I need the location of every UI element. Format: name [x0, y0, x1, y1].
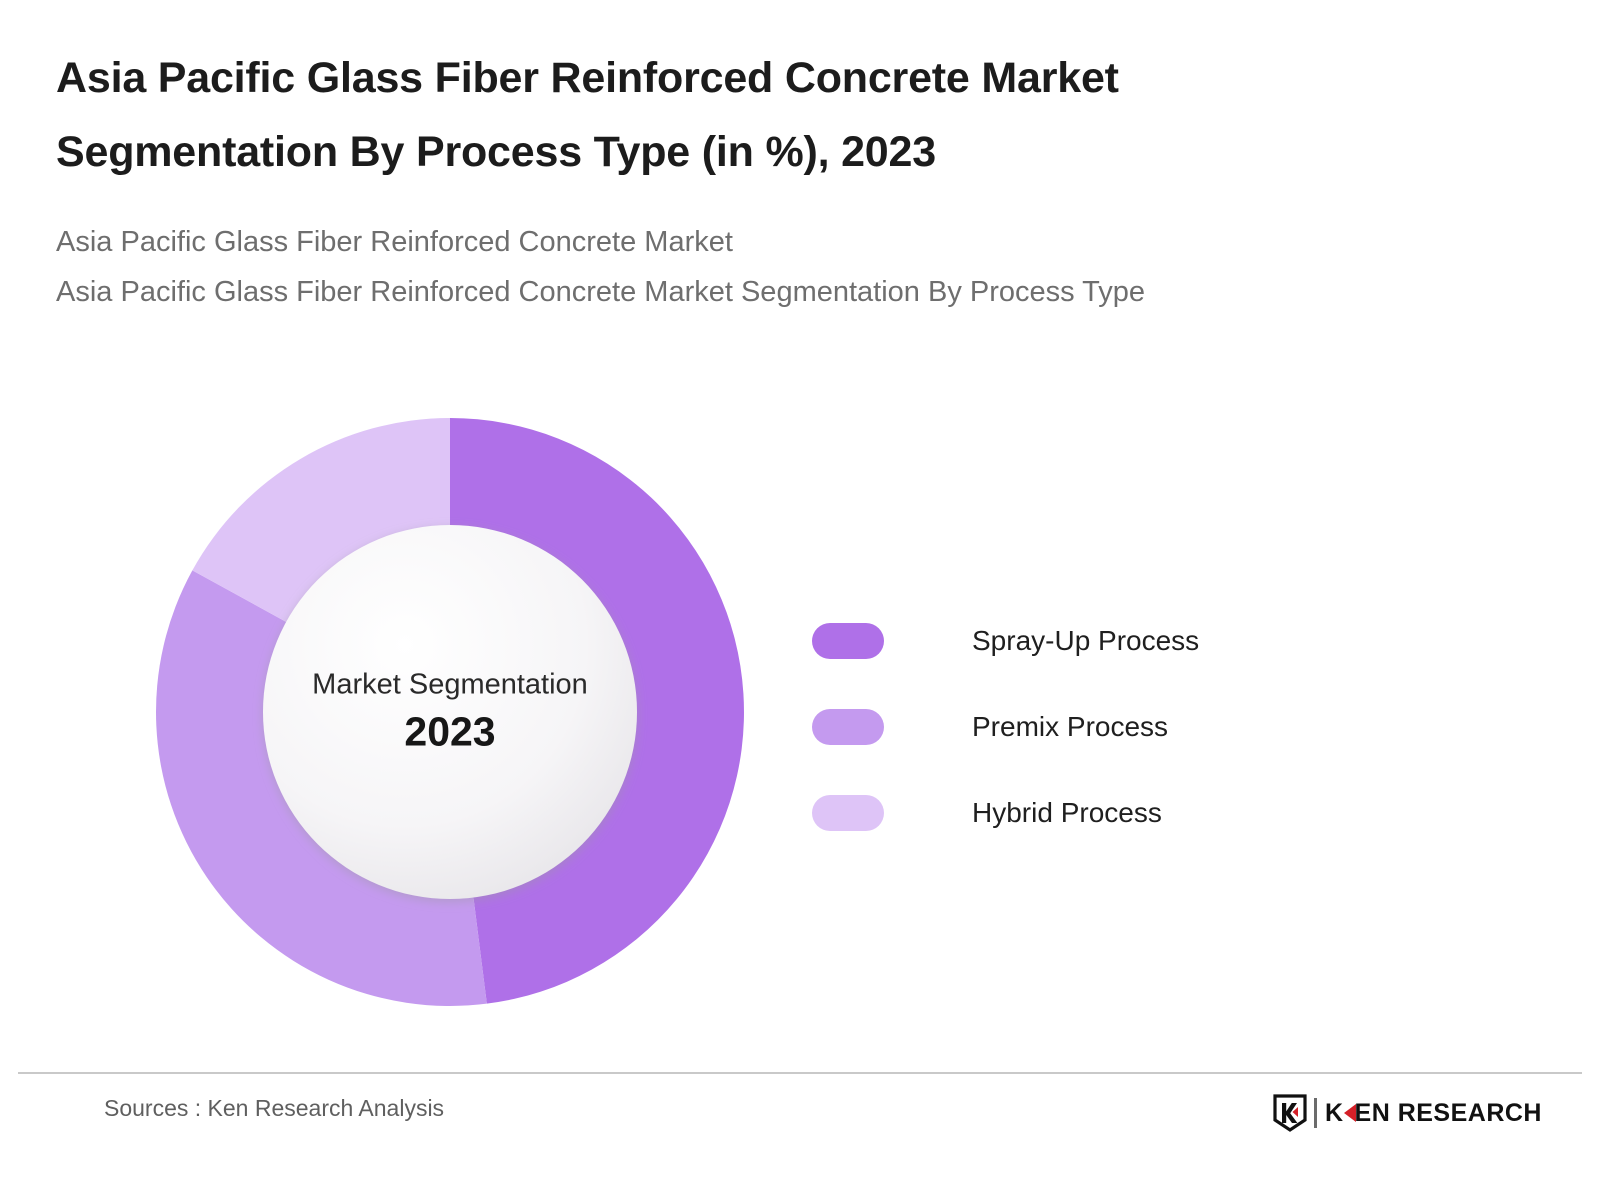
header: Asia Pacific Glass Fiber Reinforced Conc… [56, 42, 1416, 318]
ken-research-shield-icon [1273, 1094, 1307, 1132]
ken-research-logo: K EN RESEARCH [1273, 1093, 1542, 1133]
logo-wordmark-rest: EN RESEARCH [1355, 1099, 1542, 1128]
legend-item[interactable]: Spray-Up Process [812, 612, 1199, 670]
donut-chart: Market Segmentation 2023 [156, 418, 744, 1006]
legend-swatch [812, 709, 884, 745]
subtitle-block: Asia Pacific Glass Fiber Reinforced Conc… [56, 218, 1416, 318]
logo-letter-k: K [1325, 1099, 1344, 1128]
legend-swatch [812, 795, 884, 831]
legend-item[interactable]: Premix Process [812, 698, 1199, 756]
chart-legend: Spray-Up ProcessPremix ProcessHybrid Pro… [812, 612, 1199, 842]
legend-label: Hybrid Process [972, 797, 1162, 829]
legend-item[interactable]: Hybrid Process [812, 784, 1199, 842]
chart-area: Market Segmentation 2023 Spray-Up Proces… [0, 380, 1600, 1060]
page-title: Asia Pacific Glass Fiber Reinforced Conc… [56, 42, 1296, 190]
logo-divider [1314, 1098, 1317, 1128]
donut-chart-svg [156, 418, 744, 1006]
donut-inner-circle [263, 525, 637, 899]
footer-divider [18, 1072, 1582, 1074]
legend-label: Premix Process [972, 711, 1168, 743]
logo-wordmark: K EN RESEARCH [1325, 1099, 1542, 1128]
legend-swatch [812, 623, 884, 659]
slide-canvas: Asia Pacific Glass Fiber Reinforced Conc… [0, 0, 1600, 1200]
sources-text: Sources : Ken Research Analysis [104, 1095, 444, 1122]
subtitle-line-1: Asia Pacific Glass Fiber Reinforced Conc… [56, 218, 1416, 268]
legend-label: Spray-Up Process [972, 625, 1199, 657]
subtitle-line-2: Asia Pacific Glass Fiber Reinforced Conc… [56, 268, 1416, 318]
